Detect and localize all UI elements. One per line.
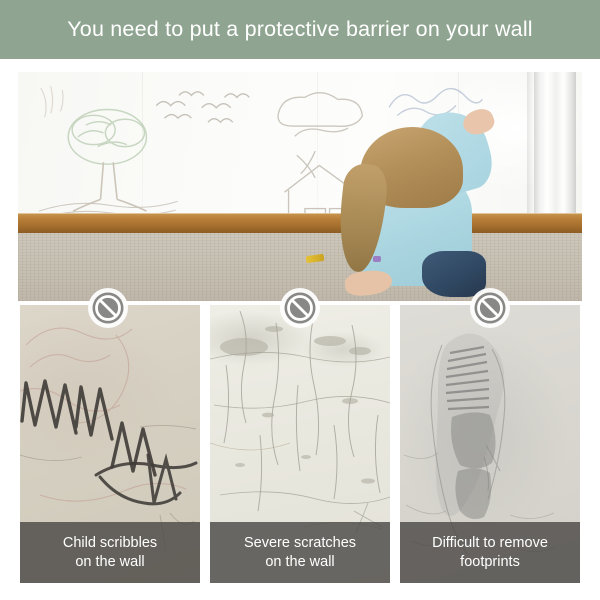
panel-caption-scribbles: Child scribbles on the wall	[20, 522, 200, 583]
crayon-drawing-birds	[148, 83, 272, 138]
crayon-on-floor-purple	[373, 256, 381, 262]
child-figure	[337, 116, 484, 301]
prohibition-icon	[469, 287, 511, 329]
prohibition-icon	[279, 287, 321, 329]
caption-line-2: on the wall	[265, 553, 334, 572]
page-title: You need to put a protective barrier on …	[67, 17, 533, 42]
hero-photo	[18, 72, 582, 301]
door-frame-column	[534, 72, 576, 235]
issue-panel-footprints: Difficult to remove footprints	[400, 305, 580, 583]
child-leg	[344, 269, 393, 298]
wood-baseboard	[18, 213, 582, 234]
issue-panel-scratches: Severe scratches on the wall	[210, 305, 390, 583]
panel-caption-scratches: Severe scratches on the wall	[210, 522, 390, 583]
caption-line-2: footprints	[460, 553, 520, 572]
promo-graphic: You need to put a protective barrier on …	[0, 0, 600, 600]
caption-line-1: Severe scratches	[244, 534, 356, 553]
caption-line-2: on the wall	[75, 553, 144, 572]
caption-line-1: Child scribbles	[63, 534, 157, 553]
caption-line-1: Difficult to remove	[432, 534, 548, 553]
prohibition-icon	[87, 287, 129, 329]
issue-panel-scribbles: Child scribbles on the wall	[20, 305, 200, 583]
panel-caption-footprints: Difficult to remove footprints	[400, 522, 580, 583]
header-banner: You need to put a protective barrier on …	[0, 0, 600, 59]
